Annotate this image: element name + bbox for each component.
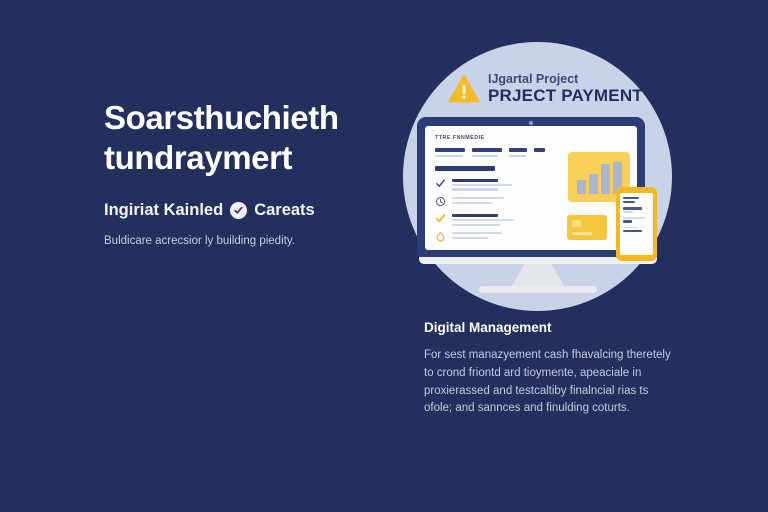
check-badge-icon (230, 202, 247, 219)
mobile-device (616, 187, 657, 261)
stat-subtext (435, 155, 463, 158)
section-heading-bar (435, 166, 495, 171)
illustration-title: PRJECT PAYMENT (488, 86, 643, 105)
laptop-camera-icon (529, 121, 533, 125)
illustration-heading: IJgartal Project PRJECT PAYMENT (448, 72, 643, 105)
laptop-mockup: TTRE FNNMEDIE (417, 117, 659, 293)
list-item-line (452, 237, 488, 239)
clock-icon (435, 196, 446, 207)
list-item-line (452, 202, 492, 204)
phone-line (623, 197, 639, 199)
caption-block: Digital Management For sest manazyement … (424, 320, 674, 418)
chart-bar (601, 164, 610, 194)
payment-card (567, 215, 607, 240)
laptop-stand (512, 264, 564, 286)
subheading-text-before: Ingiriat Kainled (104, 201, 223, 220)
stat-subtext (509, 155, 526, 158)
phone-line (623, 201, 635, 203)
phone-line (623, 211, 633, 213)
check-dark-icon (435, 178, 446, 189)
list-item-title (452, 214, 498, 217)
caption-title: Digital Management (424, 320, 674, 335)
stat-block (472, 148, 502, 157)
phone-row (623, 197, 650, 203)
stat-block (534, 148, 545, 157)
phone-line (623, 227, 638, 229)
card-chip-icon (572, 220, 581, 227)
list-item-line (452, 224, 500, 226)
stat-bar (534, 148, 545, 152)
phone-line (623, 207, 642, 209)
page-title: Soarsthuchieth tundraymert (104, 98, 394, 179)
stat-block (509, 148, 527, 157)
laptop-foot (479, 286, 597, 293)
illustration-kicker: IJgartal Project (488, 72, 643, 86)
list-item-line (452, 188, 498, 190)
phone-row (623, 217, 650, 223)
phone-row (623, 227, 650, 233)
list-item-title (452, 179, 498, 182)
card-number-line (572, 232, 592, 235)
list-item-line (452, 184, 512, 186)
stat-bar (509, 148, 527, 152)
list-item-line (452, 219, 514, 221)
check-yellow-icon (435, 213, 446, 224)
stat-block (435, 148, 465, 157)
phone-row (623, 207, 650, 213)
illustration-group: IJgartal Project PRJECT PAYMENT TTRE FNN… (403, 42, 672, 311)
poster-canvas: Soarsthuchieth tundraymert Ingiriat Kain… (0, 0, 768, 512)
left-content-column: Soarsthuchieth tundraymert Ingiriat Kain… (104, 98, 394, 250)
body-copy: Buldicare acrecsior ly building piedity. (104, 233, 394, 250)
phone-line (623, 220, 632, 222)
laptop-body: TTRE FNNMEDIE (417, 117, 645, 257)
stat-subtext (472, 155, 498, 158)
stat-bar (435, 148, 465, 152)
phone-line (623, 217, 645, 219)
laptop-screen: TTRE FNNMEDIE (425, 126, 637, 250)
stat-bar (472, 148, 502, 152)
phone-screen (620, 193, 653, 255)
screen-title: TTRE FNNMEDIE (435, 135, 627, 141)
chart-bar (577, 180, 586, 194)
subheading-text-after: Careats (254, 201, 315, 220)
phone-line (623, 230, 642, 232)
caption-body: For sest manazyement cash fhavalcing the… (424, 347, 674, 418)
chart-bar (589, 174, 598, 194)
illustration-heading-lines: IJgartal Project PRJECT PAYMENT (488, 72, 643, 105)
list-item-line (452, 197, 504, 199)
list-item-line (452, 232, 502, 234)
subheading-row: Ingiriat Kainled Careats (104, 201, 394, 220)
flame-icon (435, 231, 446, 242)
warning-triangle-icon (448, 74, 480, 104)
